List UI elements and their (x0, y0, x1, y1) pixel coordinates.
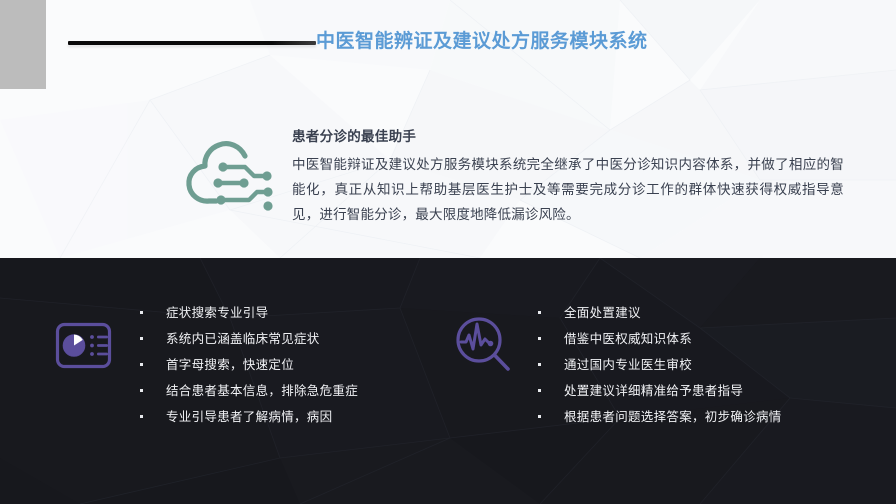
list-item: 借鉴中医权威知识体系 (536, 326, 782, 352)
feature-list-2: 全面处置建议 借鉴中医权威知识体系 通过国内专业医生审校 处置建议详细精准给予患… (536, 300, 782, 430)
intro-body: 中医智能辩证及建议处方服务模块系统完全继承了中医分诊知识内容体系，并做了相应的智… (292, 152, 844, 227)
list-item: 首字母搜索，快速定位 (138, 352, 358, 378)
pulse-search-icon (450, 312, 518, 380)
page-title: 中医智能辨证及建议处方服务模块系统 (316, 29, 648, 55)
list-item: 系统内已涵盖临床常见症状 (138, 326, 358, 352)
intro-heading: 患者分诊的最佳助手 (292, 126, 844, 148)
list-item: 结合患者基本信息，排除急危重症 (138, 378, 358, 404)
list-item-label: 结合患者基本信息，排除急危重症 (166, 384, 358, 398)
bullet-icon (140, 311, 143, 314)
bullet-icon (538, 389, 541, 392)
title-rule-shadow (68, 45, 316, 47)
bullet-icon (140, 389, 143, 392)
feature-list-1: 症状搜索专业引导 系统内已涵盖临床常见症状 首字母搜索，快速定位 结合患者基本信… (138, 300, 358, 430)
slide-canvas: 中医智能辨证及建议处方服务模块系统 (0, 0, 896, 504)
cloud-circuit-icon (183, 138, 275, 216)
list-item: 症状搜索专业引导 (138, 300, 358, 326)
bullet-icon (538, 337, 541, 340)
list-item: 全面处置建议 (536, 300, 782, 326)
list-item: 通过国内专业医生审校 (536, 352, 782, 378)
list-item: 根据患者问题选择答案，初步确诊病情 (536, 404, 782, 430)
list-item-label: 症状搜索专业引导 (166, 306, 268, 320)
list-item: 处置建议详细精准给予患者指导 (536, 378, 782, 404)
bullet-icon (538, 415, 541, 418)
bullet-icon (538, 363, 541, 366)
list-item-label: 专业引导患者了解病情，病因 (166, 410, 332, 424)
bullet-icon (140, 363, 143, 366)
list-item-label: 处置建议详细精准给予患者指导 (564, 384, 743, 398)
section-divider (0, 253, 896, 257)
bullet-icon (140, 337, 143, 340)
bullet-icon (538, 311, 541, 314)
title-rule (68, 41, 316, 45)
list-item-label: 系统内已涵盖临床常见症状 (166, 332, 320, 346)
bullet-icon (140, 415, 143, 418)
list-item-label: 首字母搜索，快速定位 (166, 358, 294, 372)
report-card-icon (52, 312, 120, 380)
list-item-label: 借鉴中医权威知识体系 (564, 332, 692, 346)
header-accent-block (0, 0, 46, 89)
list-item-label: 全面处置建议 (564, 306, 641, 320)
list-item-label: 根据患者问题选择答案，初步确诊病情 (564, 410, 782, 424)
intro-text-block: 患者分诊的最佳助手 中医智能辩证及建议处方服务模块系统完全继承了中医分诊知识内容… (292, 126, 844, 227)
list-item-label: 通过国内专业医生审校 (564, 358, 692, 372)
list-item: 专业引导患者了解病情，病因 (138, 404, 358, 430)
